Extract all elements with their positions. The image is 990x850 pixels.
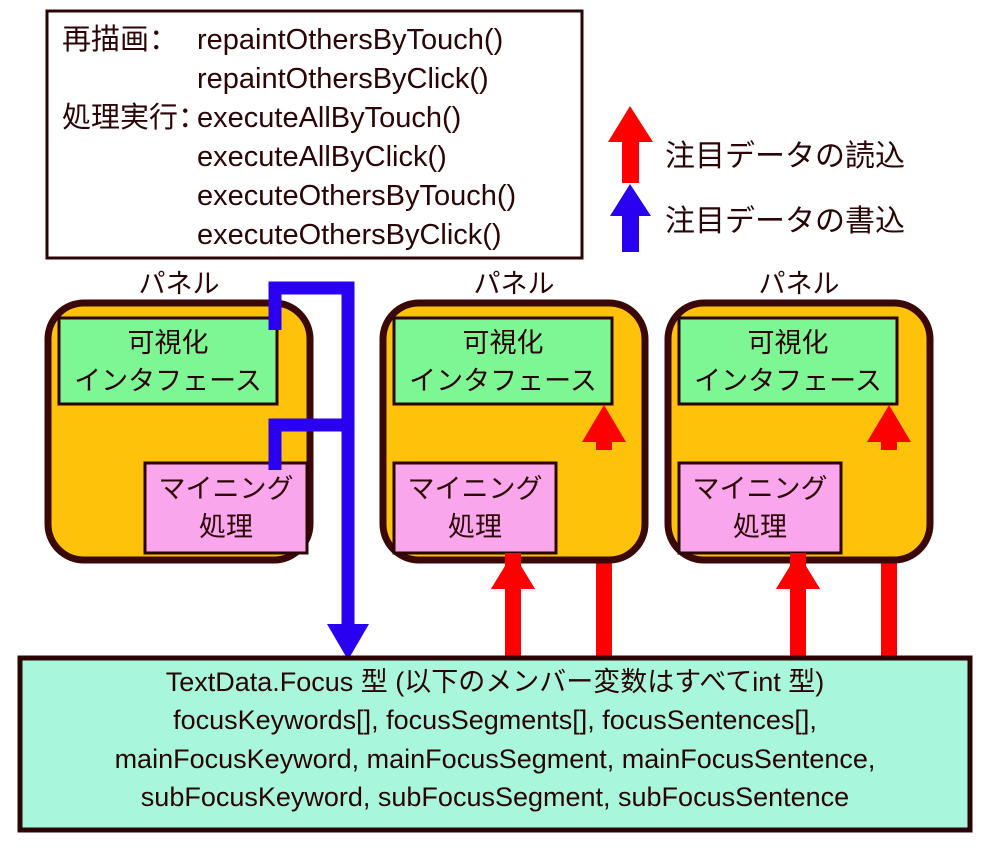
legend-item-write: 注目データの書込 <box>610 184 905 252</box>
method-row-2-label: 処理実行： <box>62 101 207 134</box>
panel-2-visualization-label-line2: インタフェース <box>409 366 597 396</box>
text-layer: 再描画： repaintOthersByTouch() repaintOther… <box>0 0 990 850</box>
method-row-2-method: executeAllByTouch() <box>197 102 461 134</box>
data-store-line-1: focusKeywords[], focusSegments[], focusS… <box>173 705 817 735</box>
panel-3-mining-label-line1: マイニング <box>693 474 828 504</box>
method-row-0-label: 再描画： <box>62 23 178 56</box>
panel-2-caption: パネル <box>474 269 555 299</box>
data-store-line-3: subFocusKeyword, subFocusSegment, subFoc… <box>141 782 849 812</box>
method-row-4-method: executeOthersByTouch() <box>197 180 516 212</box>
data-store-text: TextData.Focus 型 (以下のメンバー変数はすべてint 型) fo… <box>115 667 876 812</box>
panel-1-mining-label-line1: マイニング <box>159 474 294 504</box>
panel-2-visualization-label-line1: 可視化 <box>463 328 544 358</box>
architecture-diagram: 再描画： repaintOthersByTouch() repaintOther… <box>0 0 990 850</box>
panel-3-caption: パネル <box>759 269 840 299</box>
legend-item-read: 注目データの読込 <box>608 106 905 183</box>
method-box-rows: 再描画： repaintOthersByTouch() repaintOther… <box>62 23 516 251</box>
up-arrow-red-shaft <box>622 135 639 183</box>
legend: 注目データの読込 注目データの書込 <box>608 106 905 252</box>
panel-3-visualization-label-line2: インタフェース <box>694 366 882 396</box>
panel-1-visualization-label-line1: 可視化 <box>128 328 209 358</box>
panel-1-visualization-label-line2: インタフェース <box>74 366 262 396</box>
panel-3-visualization-label-line1: 可視化 <box>748 328 829 358</box>
legend-label-read: 注目データの読込 <box>665 140 905 173</box>
panel-2-mining-label-line1: マイニング <box>408 474 543 504</box>
method-row-3-method: executeAllByClick() <box>197 141 447 173</box>
legend-label-write: 注目データの書込 <box>665 205 905 238</box>
panel-2-mining-label-line2: 処理 <box>448 512 502 542</box>
data-store-line-0: TextData.Focus 型 (以下のメンバー変数はすべてint 型) <box>166 667 825 697</box>
up-arrow-red-head <box>608 106 653 142</box>
panel-3-mining-label-line2: 処理 <box>733 512 787 542</box>
method-row-0-method: repaintOthersByTouch() <box>197 24 503 56</box>
data-store-line-2: mainFocusKeyword, mainFocusSegment, main… <box>115 744 876 774</box>
panel-1-caption: パネル <box>139 269 220 299</box>
method-row-5-method: executeOthersByClick() <box>197 219 502 251</box>
panel-1-mining-label-line2: 処理 <box>199 512 253 542</box>
up-arrow-blue-head <box>610 184 651 216</box>
method-row-1-method: repaintOthersByClick() <box>197 63 489 95</box>
